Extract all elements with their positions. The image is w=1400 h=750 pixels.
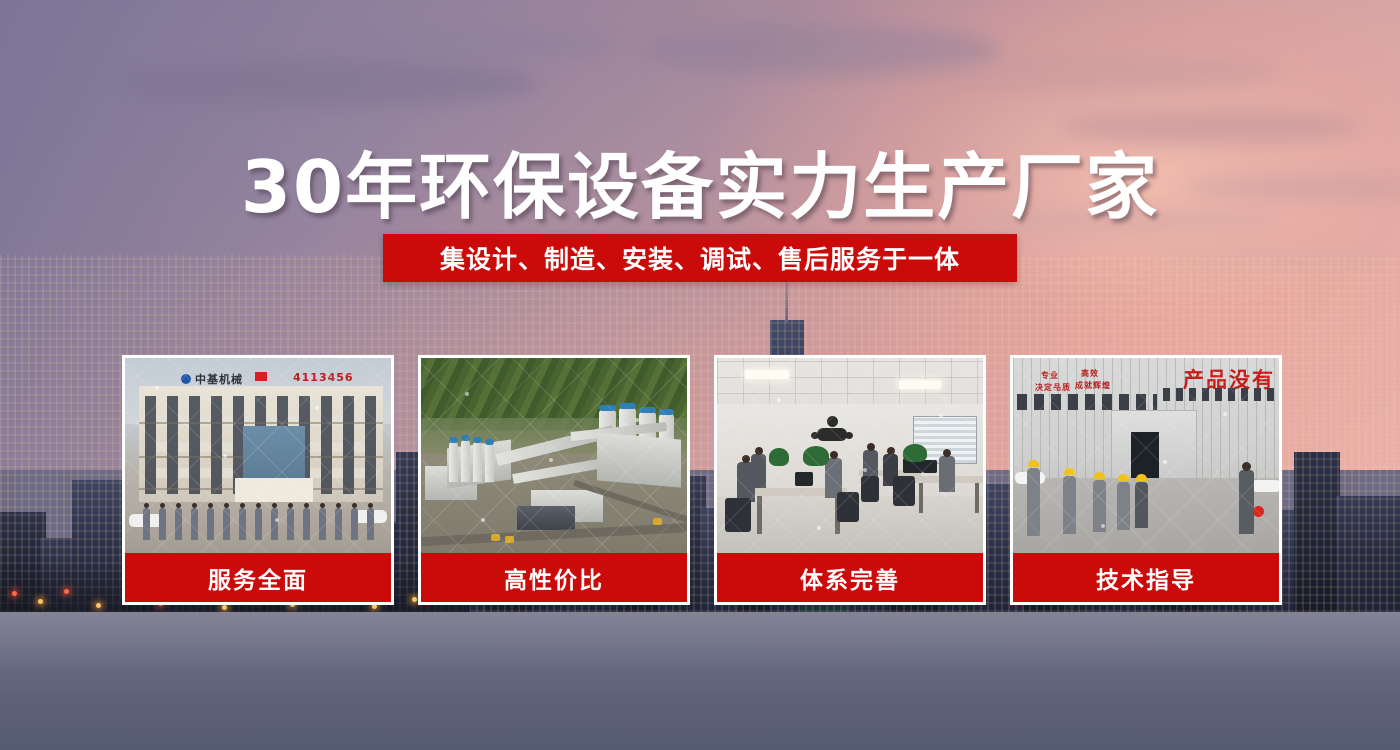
card-caption-text: 服务全面	[208, 561, 308, 595]
card-caption: 服务全面	[125, 553, 391, 602]
card-caption-text: 体系完善	[800, 561, 900, 595]
feature-card[interactable]: 高性价比	[418, 355, 690, 605]
feature-card[interactable]: 产品没有 专业 高效 决定品质 成就辉煌	[1010, 355, 1282, 605]
company-logo-icon	[181, 374, 191, 384]
card-caption: 高性价比	[421, 553, 687, 602]
red-helmet-icon	[1253, 506, 1264, 517]
subtitle-banner: 集设计、制造、安装、调试、售后服务于一体	[383, 234, 1017, 282]
factory-sign-small-4: 成就辉煌	[1075, 380, 1111, 391]
promo-banner-stage: 30年环保设备实力生产厂家 集设计、制造、安装、调试、售后服务于一体 中基机械	[0, 0, 1400, 750]
card-caption: 技术指导	[1013, 553, 1279, 602]
card-caption: 体系完善	[717, 553, 983, 602]
wall-decal	[811, 416, 853, 448]
card-caption-text: 技术指导	[1096, 561, 1196, 595]
feature-card[interactable]: 中基机械 4113456	[122, 355, 394, 605]
factory-sign-small-1: 专业	[1041, 370, 1059, 381]
card-photo-factory-workers: 产品没有 专业 高效 决定品质 成就辉煌	[1013, 358, 1279, 556]
feature-card-list: 中基机械 4113456	[122, 355, 1282, 605]
subtitle-text: 集设计、制造、安装、调试、售后服务于一体	[440, 240, 960, 276]
cloud	[320, 30, 620, 60]
feature-card[interactable]: 体系完善	[714, 355, 986, 605]
river-reflection	[0, 612, 1400, 672]
page-title: 30年环保设备实力生产厂家	[0, 128, 1400, 233]
cloud	[120, 60, 540, 106]
card-photo-office-building: 中基机械 4113456	[125, 358, 391, 556]
factory-sign-small-3: 决定品质	[1035, 382, 1071, 393]
card-photo-office-interior	[717, 358, 983, 556]
building-sign-text: 中基机械	[195, 371, 243, 387]
card-photo-industrial-plant	[421, 358, 687, 556]
card-caption-text: 高性价比	[504, 561, 604, 595]
cloud	[640, 24, 1000, 76]
building-phone-text: 4113456	[293, 371, 354, 384]
factory-sign-small-2: 高效	[1081, 368, 1099, 379]
